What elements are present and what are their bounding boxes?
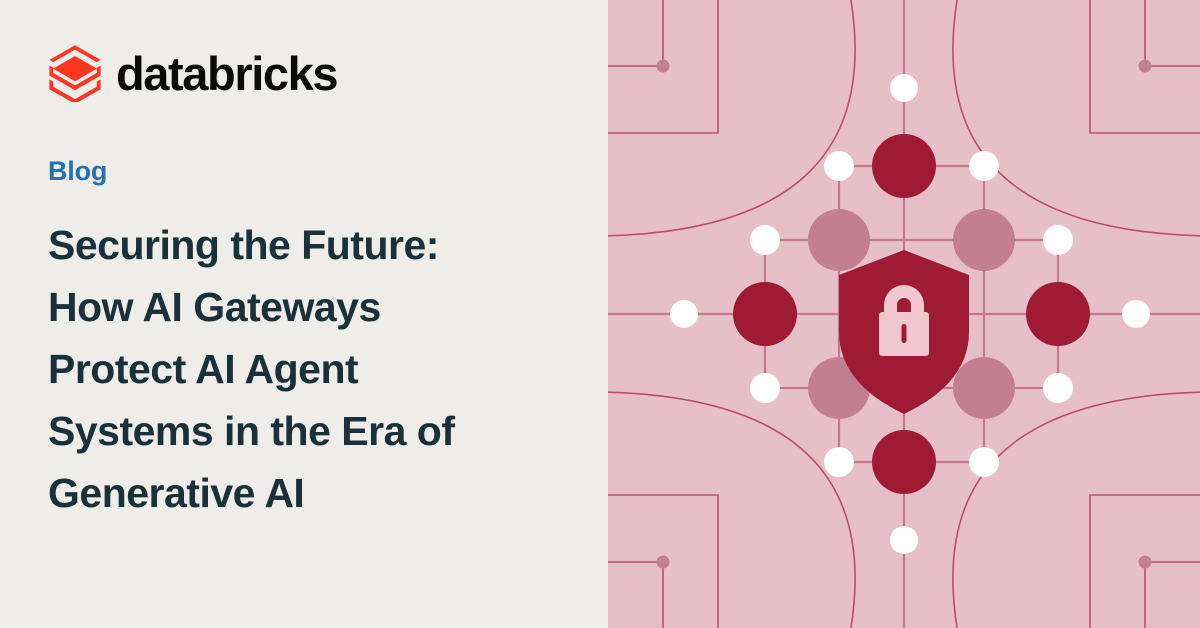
network-node-accent: [824, 151, 854, 181]
databricks-brand-lockup: databricks: [48, 44, 337, 102]
padlock-glyph: [879, 285, 929, 356]
social-card: databricks Blog Securing the Future: How…: [0, 0, 1200, 628]
network-node-secondary: [953, 209, 1015, 271]
network-node-accent-outer: [890, 74, 918, 102]
databricks-logo-icon: [48, 44, 102, 102]
network-node-secondary: [953, 357, 1015, 419]
network-node-accent-outer: [670, 300, 698, 328]
network-node-accent: [750, 373, 780, 403]
corner-dot: [1139, 60, 1152, 73]
network-node-accent: [824, 447, 854, 477]
network-node-accent-outer: [890, 526, 918, 554]
network-node-primary: [872, 430, 936, 494]
left-content-panel: databricks Blog Securing the Future: How…: [0, 0, 608, 628]
headline-line: Systems in the Era of: [48, 400, 548, 462]
network-node-accent: [1043, 373, 1073, 403]
headline-line: How AI Gateways: [48, 276, 548, 338]
content-type-label: Blog: [48, 157, 107, 187]
corner-dot: [657, 60, 670, 73]
network-node-secondary: [808, 209, 870, 271]
corner-dot: [1139, 556, 1152, 569]
decorative-graphic-panel: [608, 0, 1200, 628]
network-node-accent: [1043, 225, 1073, 255]
network-node-accent: [969, 151, 999, 181]
network-node-accent-outer: [1122, 300, 1150, 328]
network-node-primary: [872, 134, 936, 198]
network-node-accent: [969, 447, 999, 477]
network-node-accent: [750, 225, 780, 255]
headline-line: Securing the Future:: [48, 214, 548, 276]
databricks-wordmark: databricks: [116, 50, 337, 97]
page-title: Securing the Future: How AI Gateways Pro…: [48, 214, 548, 524]
headline-line: Generative AI: [48, 462, 548, 524]
ai-security-network-illustration: [608, 0, 1200, 628]
network-node-primary: [1026, 282, 1090, 346]
network-node-primary: [733, 282, 797, 346]
headline-line: Protect AI Agent: [48, 338, 548, 400]
corner-dot: [657, 556, 670, 569]
